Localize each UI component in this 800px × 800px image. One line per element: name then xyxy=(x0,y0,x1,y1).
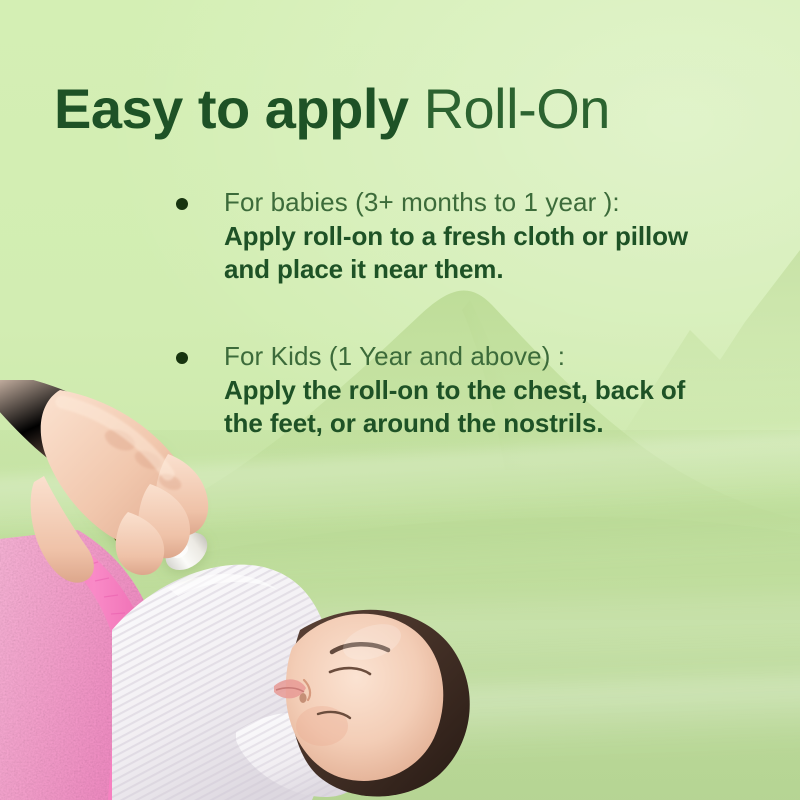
list-item-body-line: the feet, or around the nostrils. xyxy=(224,407,736,440)
page-title-space xyxy=(409,77,424,140)
floor-shading xyxy=(0,430,800,800)
list-item-lead: For babies (3+ months to 1 year ): xyxy=(224,186,736,219)
page-title-strong: Easy to apply xyxy=(54,77,409,140)
list-item-body-line: Apply the roll-on to the chest, back of xyxy=(224,374,736,407)
page-title-light: Roll-On xyxy=(424,77,610,140)
bullet-dot-icon xyxy=(176,198,188,210)
list-item: For babies (3+ months to 1 year ): Apply… xyxy=(176,186,736,286)
instruction-list: For babies (3+ months to 1 year ): Apply… xyxy=(176,186,736,440)
list-item-body: Apply the roll-on to the chest, back of … xyxy=(224,374,736,440)
list-item: For Kids (1 Year and above) : Apply the … xyxy=(176,340,736,440)
page-title: Easy to apply Roll-On xyxy=(54,80,610,139)
list-item-lead: For Kids (1 Year and above) : xyxy=(224,340,736,373)
bullet-dot-icon xyxy=(176,352,188,364)
list-item-body-line: Apply roll-on to a fresh cloth or pillow xyxy=(224,220,736,253)
poster-canvas: Easy to apply Roll-On For babies (3+ mon… xyxy=(0,0,800,800)
list-item-body-line: and place it near them. xyxy=(224,253,736,286)
list-item-body: Apply roll-on to a fresh cloth or pillow… xyxy=(224,220,736,286)
